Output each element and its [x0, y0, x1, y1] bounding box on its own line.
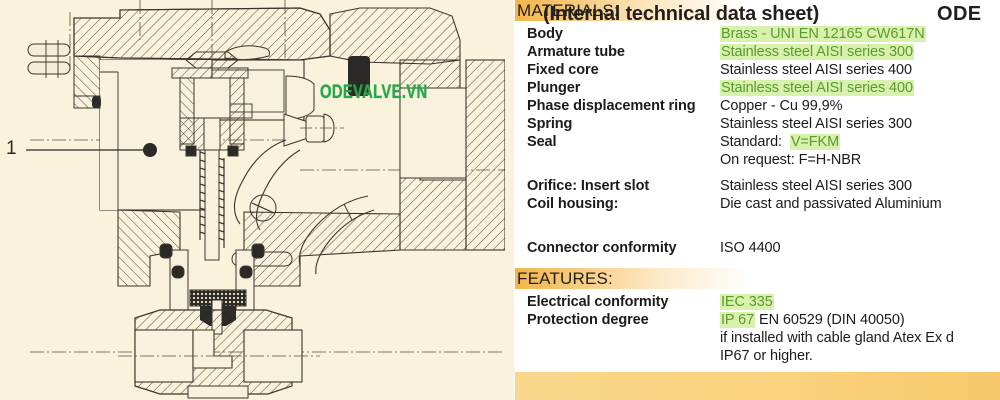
data-sheet-page: 1 ODEVALVE.VN MATERIALS: Body Brass - UN… — [0, 0, 1000, 400]
row-key: Orifice: Insert slot — [527, 178, 649, 194]
coil-wall-left — [74, 56, 100, 96]
row-key: Connector conformity — [527, 240, 676, 256]
row-value-highlighted: IP 67 — [720, 312, 755, 328]
row-key: Armature tube — [527, 44, 625, 60]
row-value: Standard: V=FKM — [720, 134, 840, 150]
row-value: Die cast and passivated Aluminium — [720, 196, 942, 212]
row-value: Stainless steel AISI series 300 — [720, 178, 912, 194]
row-value-text: EN 60529 (DIN 40050) — [759, 312, 905, 328]
nozzle — [284, 114, 344, 146]
features-heading: FEATURES: — [517, 269, 613, 289]
row-value: IP 67 EN 60529 (DIN 40050) — [720, 312, 905, 328]
row-key: Phase displacement ring — [527, 98, 696, 114]
coil-housing-cap — [330, 8, 460, 64]
odevalve-watermark: ODEVALVE.VN — [320, 82, 427, 104]
row-value-text: Standard: — [720, 134, 782, 150]
valve-cross-section-drawing: 1 ODEVALVE.VN — [0, 0, 505, 400]
row-value-text: Stainless steel AISI series 300 — [720, 44, 914, 60]
sheet-left-strip — [505, 0, 514, 400]
body-mid-right — [244, 212, 400, 286]
technical-data-sheet: MATERIALS: Body Brass - UNI EN 12165 CW6… — [505, 0, 1000, 400]
row-key: Spring — [527, 116, 572, 132]
brand-logo-ode: ODE — [937, 3, 982, 26]
callout-number-1: 1 — [6, 138, 17, 160]
row-value: Stainless steel AISI series 300 — [720, 44, 914, 60]
row-key: Fixed core — [527, 62, 599, 78]
footer-title: (Internal technical data sheet) — [543, 3, 819, 26]
footer-bar — [515, 372, 1000, 400]
row-value: IEC 335 — [720, 294, 774, 310]
row-value: Stainless steel AISI series 400 — [720, 80, 914, 96]
row-key: Coil housing: — [527, 196, 618, 212]
row-key: Plunger — [527, 80, 580, 96]
row-value: Brass - UNI EN 12165 CW617N — [720, 26, 926, 42]
row-value: IP67 or higher. — [720, 348, 813, 364]
row-value: Stainless steel AISI series 400 — [720, 62, 912, 78]
row-key: Electrical conformity — [527, 294, 668, 310]
row-value: Stainless steel AISI series 300 — [720, 116, 912, 132]
row-value: if installed with cable gland Atex Ex d — [720, 330, 954, 346]
row-value: On request: F=H-NBR — [720, 152, 861, 168]
row-value: ISO 4400 — [720, 240, 780, 256]
row-key: Protection degree — [527, 312, 649, 328]
row-value-highlighted: V=FKM — [790, 134, 840, 150]
row-key: Seal — [527, 134, 556, 150]
row-value-text: Stainless steel AISI series 400 — [720, 80, 914, 96]
valve-drawing-svg — [0, 0, 505, 400]
row-value: Copper - Cu 99,9% — [720, 98, 842, 114]
row-value-text: Brass - UNI EN 12165 CW617N — [720, 26, 926, 42]
row-key: Body — [527, 26, 563, 42]
row-value-text: IEC 335 — [720, 294, 774, 310]
plunger — [205, 150, 219, 260]
terminal-lugs — [28, 40, 70, 78]
